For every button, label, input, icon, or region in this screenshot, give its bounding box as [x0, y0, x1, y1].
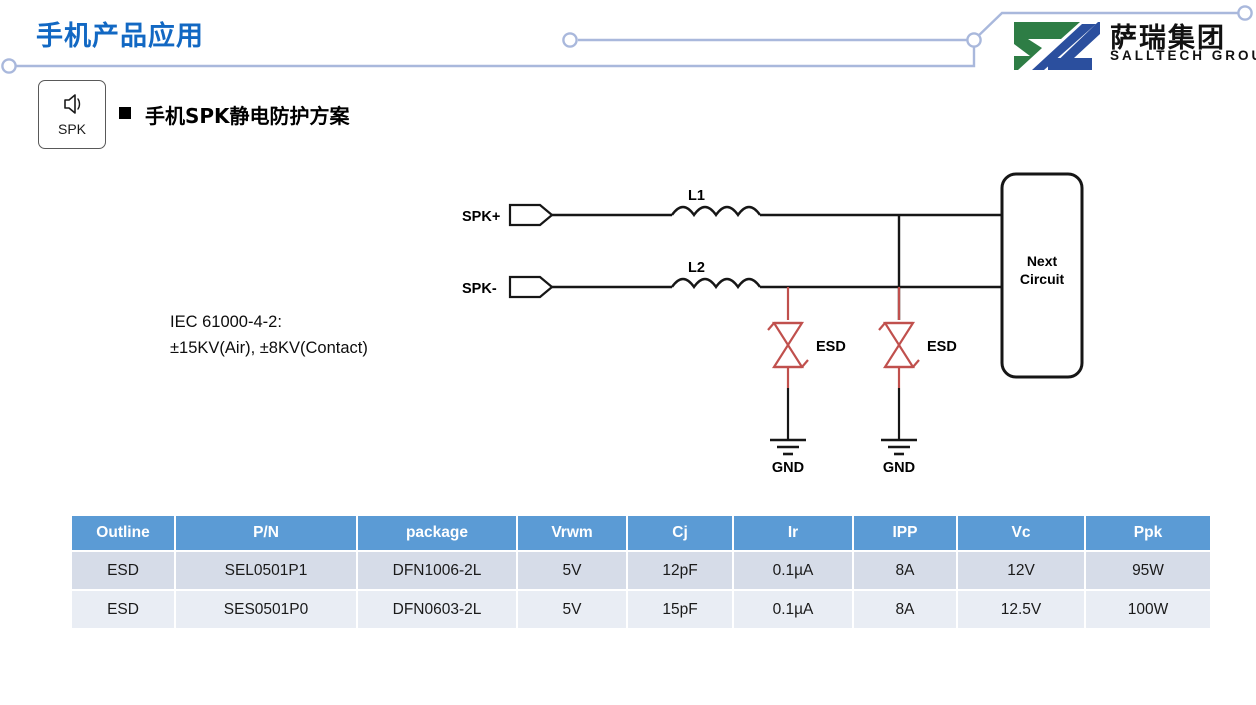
esd1-ground-symbol [770, 440, 806, 454]
spk-badge: SPK [38, 80, 106, 149]
cell-ir: 0.1µA [734, 591, 852, 628]
cell-pn: SEL0501P1 [176, 552, 356, 589]
port-label-spk-minus: SPK- [462, 281, 497, 297]
section-subtitle: 手机SPK静电防护方案 [145, 100, 350, 129]
subtitle-bullet-icon [119, 107, 131, 119]
cell-vc: 12.5V [958, 591, 1084, 628]
next-circuit-label-line1: Next [1027, 253, 1058, 269]
spk-badge-label: SPK [39, 121, 105, 137]
page-title: 手机产品应用 [36, 14, 204, 53]
cell-vrwm: 5V [518, 591, 626, 628]
iec-standard-note: IEC 61000-4-2: ±15KV(Air), ±8KV(Contact) [170, 309, 368, 361]
cell-ir: 0.1µA [734, 552, 852, 589]
table-row[interactable]: ESD SEL0501P1 DFN1006-2L 5V 12pF 0.1µA 8… [72, 552, 1210, 589]
iec-note-line1: IEC 61000-4-2: [170, 309, 368, 335]
cell-ipp: 8A [854, 552, 956, 589]
cell-outline: ESD [72, 591, 174, 628]
cell-package: DFN0603-2L [358, 591, 516, 628]
table-row[interactable]: ESD SES0501P0 DFN0603-2L 5V 15pF 0.1µA 8… [72, 591, 1210, 628]
cell-package: DFN1006-2L [358, 552, 516, 589]
cell-outline: ESD [72, 552, 174, 589]
esd2-ground-label: GND [883, 460, 915, 476]
column-header-ipp[interactable]: IPP [854, 516, 956, 550]
column-header-cj[interactable]: Cj [628, 516, 732, 550]
inductor-l1-symbol [672, 207, 760, 215]
port-label-spk-plus: SPK+ [462, 209, 500, 225]
cell-ppk: 100W [1086, 591, 1210, 628]
cell-ipp: 8A [854, 591, 956, 628]
spec-table: Outline P/N package Vrwm Cj Ir IPP Vc Pp… [70, 514, 1212, 630]
cell-vrwm: 5V [518, 552, 626, 589]
cell-vc: 12V [958, 552, 1084, 589]
inductor-l2-label: L2 [688, 260, 705, 276]
next-circuit-label-line2: Circuit [1020, 271, 1065, 287]
column-header-vc[interactable]: Vc [958, 516, 1084, 550]
port-connector-spk-plus [510, 205, 552, 225]
logo-name-en: SALLTECH GROUP [1110, 48, 1256, 63]
cell-pn: SES0501P0 [176, 591, 356, 628]
port-connector-spk-minus [510, 277, 552, 297]
column-header-ir[interactable]: Ir [734, 516, 852, 550]
column-header-ppk[interactable]: Ppk [1086, 516, 1210, 550]
speaker-icon [60, 93, 84, 115]
esd2-tvs-diode-symbol [879, 323, 919, 367]
cell-cj: 15pF [628, 591, 732, 628]
circuit-schematic: SPK+ SPK- L1 L2 GND ESD [440, 160, 1100, 490]
column-header-vrwm[interactable]: Vrwm [518, 516, 626, 550]
salltech-sz-logo-icon [1008, 20, 1100, 72]
column-header-pn[interactable]: P/N [176, 516, 356, 550]
inductor-l2-symbol [672, 279, 760, 287]
esd2-label: ESD [927, 339, 957, 355]
inductor-l1-label: L1 [688, 188, 705, 204]
cell-cj: 12pF [628, 552, 732, 589]
brand-logo: 萨瑞集团 SALLTECH GROUP [1008, 18, 1248, 74]
column-header-outline[interactable]: Outline [72, 516, 174, 550]
esd1-label: ESD [816, 339, 846, 355]
esd2-ground-symbol [881, 440, 917, 454]
esd1-tvs-diode-symbol [768, 323, 808, 367]
cell-ppk: 95W [1086, 552, 1210, 589]
column-header-package[interactable]: package [358, 516, 516, 550]
esd1-ground-label: GND [772, 460, 804, 476]
iec-note-line2: ±15KV(Air), ±8KV(Contact) [170, 335, 368, 361]
table-header-row: Outline P/N package Vrwm Cj Ir IPP Vc Pp… [72, 516, 1210, 550]
